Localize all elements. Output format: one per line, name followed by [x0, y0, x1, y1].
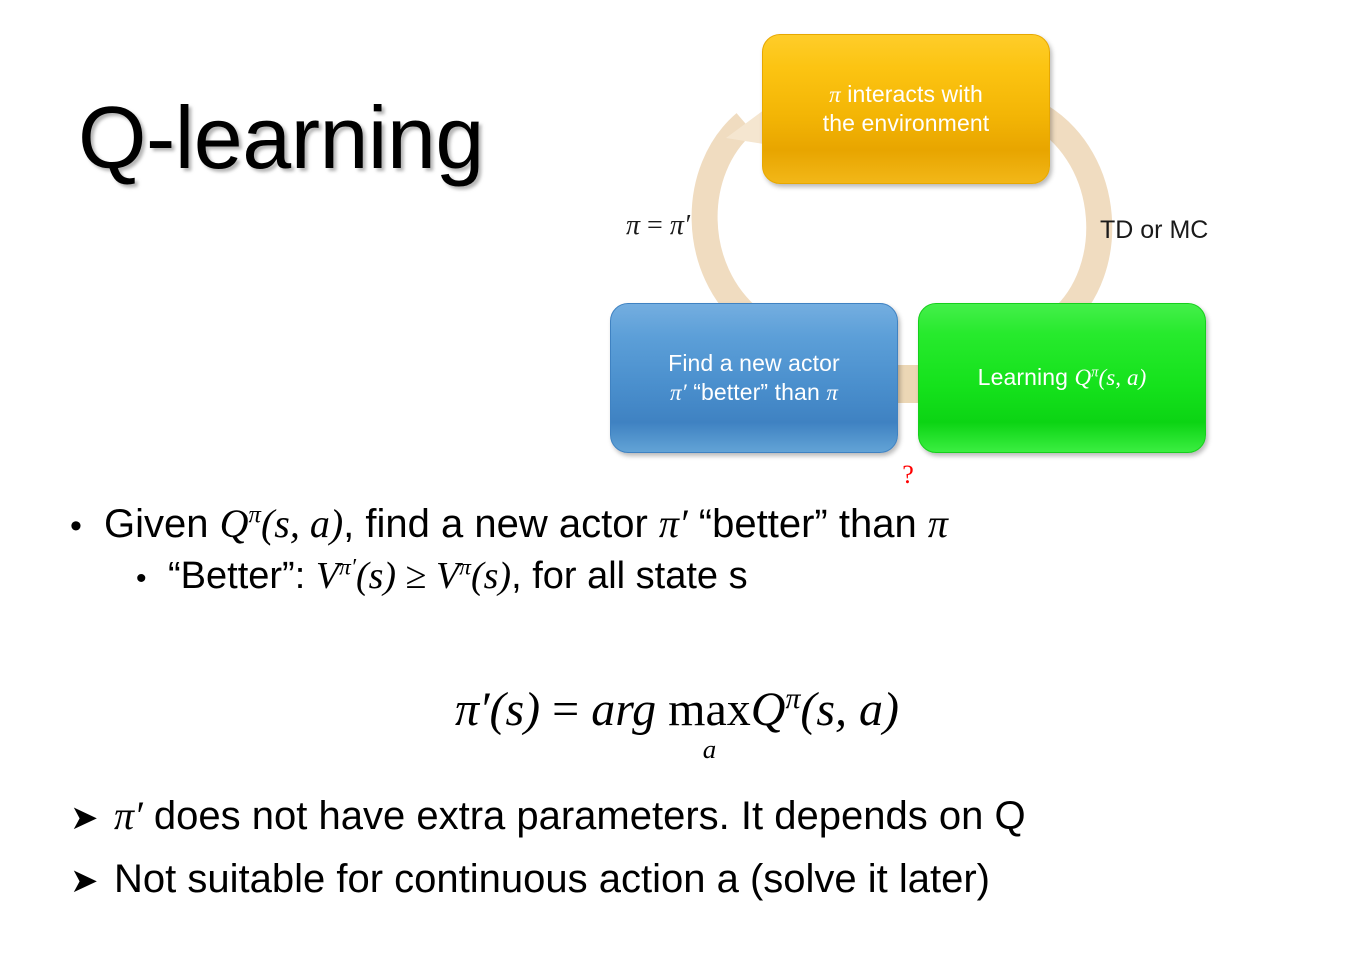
box-learnq-prefix: Learning — [978, 364, 1075, 390]
equation-pi-prime: π′ — [455, 683, 490, 736]
connector-actor-to-learnq — [898, 365, 920, 403]
label-td-or-mc: TD or MC — [1100, 216, 1208, 245]
arrow-bullet-icon: ➤ — [70, 801, 114, 835]
better-than-label: “better” than — [688, 502, 928, 546]
pi-prime-symbol: π′ — [659, 501, 688, 546]
equation-q-superscript: π — [785, 682, 800, 715]
list-item-better-text: “Better”: Vπ′(s) ≥ Vπ(s), for all state … — [168, 554, 748, 599]
geq-operator: ≥ — [396, 555, 436, 597]
for-all-state-label: , for all state s — [511, 555, 748, 597]
equation-max-operator: maxa — [668, 686, 751, 763]
box-environment-line1: interacts with — [841, 81, 983, 107]
diagram-box-learning-q[interactable]: Learning Qπ(s, a) — [918, 303, 1206, 453]
equation-equals: = — [540, 683, 591, 736]
box-actor-pi: π — [826, 380, 838, 405]
equation-max-label: max — [668, 686, 751, 734]
sub-bullet-dot-icon: • — [136, 564, 168, 594]
label-pi-prime: π′ — [670, 210, 690, 241]
find-actor-label: , find a new actor — [343, 502, 659, 546]
q-superscript: π — [249, 502, 261, 529]
box-learnq-symbol: Q — [1074, 365, 1091, 390]
arrow-bullet-list: ➤ π′ does not have extra parameters. It … — [70, 792, 1310, 919]
arrow-bullet-icon-2: ➤ — [70, 864, 114, 898]
arrow-bullet-label-1: does not have extra parameters. It depen… — [143, 794, 1026, 838]
diagram-box-environment[interactable]: π interacts with the environment — [762, 34, 1050, 184]
q-symbol: Q — [220, 501, 249, 546]
policy-iteration-cycle-diagram: π interacts with the environment Find a … — [540, 20, 1300, 490]
arrow-bullet-label-2: Not suitable for continuous action a (so… — [114, 857, 990, 901]
label-equals: = — [640, 210, 670, 241]
box-environment-pi: π — [829, 82, 841, 107]
list-item-no-extra-parameters-text: π′ does not have extra parameters. It de… — [114, 792, 1026, 840]
v-symbol-1: V — [316, 555, 339, 597]
bullet-dot-icon: • — [70, 509, 104, 543]
box-actor-line2: “better” than — [687, 379, 827, 405]
box-environment-line2: the environment — [823, 110, 989, 136]
v-superscript-2: π — [459, 555, 471, 581]
v-symbol-2: V — [436, 555, 459, 597]
list-item-not-suitable-continuous: ➤ Not suitable for continuous action a (… — [70, 856, 1310, 903]
arrow-pi-prime-symbol: π′ — [114, 793, 143, 838]
box-actor-line1: Find a new actor — [668, 350, 840, 376]
bullet-list: • Given Qπ(s, a), find a new actor π′ “b… — [70, 500, 1300, 599]
box-actor-pi-prime: π′ — [670, 380, 687, 405]
list-item-given-q: • Given Qπ(s, a), find a new actor π′ “b… — [70, 500, 1300, 548]
v-arguments-1: (s) — [356, 555, 396, 597]
equation-arg: arg — [591, 683, 656, 736]
better-label: “Better”: — [168, 555, 316, 597]
given-label: Given — [104, 502, 220, 546]
equation-lhs-args: (s) — [490, 683, 541, 736]
v-superscript-1: π′ — [339, 555, 356, 581]
list-item-not-suitable-continuous-text: Not suitable for continuous action a (so… — [114, 856, 990, 903]
equation-q-symbol: Q — [751, 683, 786, 736]
page-title: Q-learning — [78, 92, 484, 184]
v-arguments-2: (s) — [471, 555, 511, 597]
label-policy-update: π = π′ — [540, 210, 690, 242]
diagram-box-find-new-actor[interactable]: Find a new actor π′ “better” than π — [610, 303, 898, 453]
q-arguments: (s, a) — [261, 501, 343, 546]
box-learnq-args: (s, a) — [1098, 365, 1146, 390]
equation-max-subscript: a — [703, 736, 716, 763]
equation-q-args: (s, a) — [800, 683, 899, 736]
list-item-better-definition: • “Better”: Vπ′(s) ≥ Vπ(s), for all stat… — [136, 554, 1300, 599]
policy-improvement-equation: π′(s) = arg maxaQπ(s, a) — [0, 682, 1354, 763]
pi-symbol: π — [928, 501, 948, 546]
list-item-given-q-text: Given Qπ(s, a), find a new actor π′ “bet… — [104, 500, 948, 548]
list-item-no-extra-parameters: ➤ π′ does not have extra parameters. It … — [70, 792, 1310, 840]
question-mark-annotation: ? — [888, 460, 928, 490]
label-pi: π — [626, 210, 640, 241]
